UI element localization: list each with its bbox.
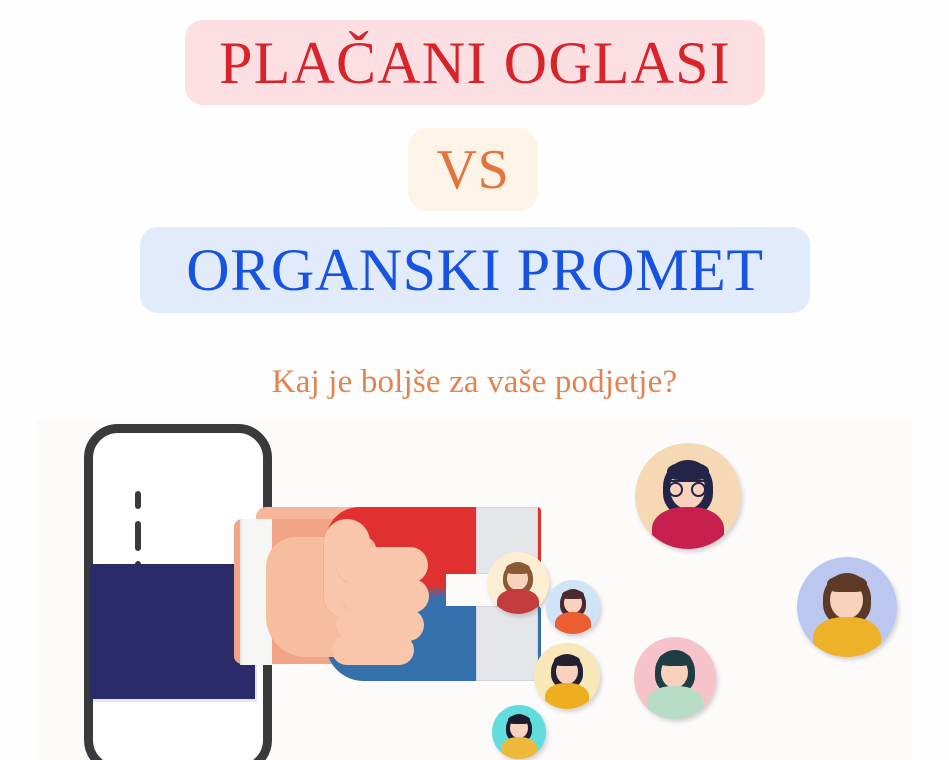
- avatar-man-red-jacket: [487, 552, 549, 614]
- avatar-clothing: [501, 737, 538, 759]
- phone-side-button-volume-up-icon: [135, 521, 141, 551]
- glasses-icon: [668, 480, 706, 494]
- avatar-clothing: [497, 589, 539, 614]
- avatar-woman-yellow-top: [534, 643, 600, 709]
- avatar-man-glasses: [635, 443, 741, 549]
- avatar-person-cyan: [492, 705, 546, 759]
- avatar-woman-orange-top: [546, 580, 600, 634]
- hand-finger-pinky: [332, 635, 414, 665]
- avatar-clothing: [545, 683, 590, 709]
- avatar-woman-mint-top: [634, 637, 716, 719]
- hand-finger-middle: [341, 579, 429, 613]
- avatar-hair-fringe: [554, 655, 580, 666]
- avatar-clothing: [555, 612, 592, 634]
- avatar-hair-fringe: [659, 652, 692, 666]
- headline-organic-traffic-text: ORGANSKI PROMET: [186, 240, 763, 300]
- phone-side-button-mute-icon: [135, 491, 141, 509]
- avatar-hair-fringe: [562, 590, 584, 599]
- headline-versus-badge: VS: [408, 128, 538, 211]
- avatar-clothing: [652, 507, 724, 549]
- avatar-clothing: [647, 686, 703, 719]
- headline-organic-traffic-banner: ORGANSKI PROMET: [140, 227, 810, 313]
- hand-finger-index: [336, 547, 428, 583]
- avatar-clothing: [813, 617, 881, 657]
- avatar-hair-fringe: [827, 575, 867, 592]
- subtitle-question: Kaj je boljše za vaše podjetje?: [0, 364, 949, 401]
- poster-canvas: PLAČANI OGLASI VS ORGANSKI PROMET Kaj je…: [0, 0, 949, 760]
- ad-card-placeholder: [90, 564, 255, 699]
- headline-paid-ads-banner: PLAČANI OGLASI: [185, 20, 765, 105]
- avatar-hair-fringe: [508, 715, 530, 724]
- avatar-woman-brown-hair: [797, 557, 897, 657]
- headline-paid-ads-text: PLAČANI OGLASI: [219, 33, 731, 93]
- headline-versus-text: VS: [437, 142, 510, 198]
- magnet-tip-bottom: [476, 606, 538, 681]
- avatar-hair-fringe: [667, 462, 709, 480]
- illustration-panel: [36, 419, 912, 760]
- avatar-hair-fringe: [506, 563, 531, 574]
